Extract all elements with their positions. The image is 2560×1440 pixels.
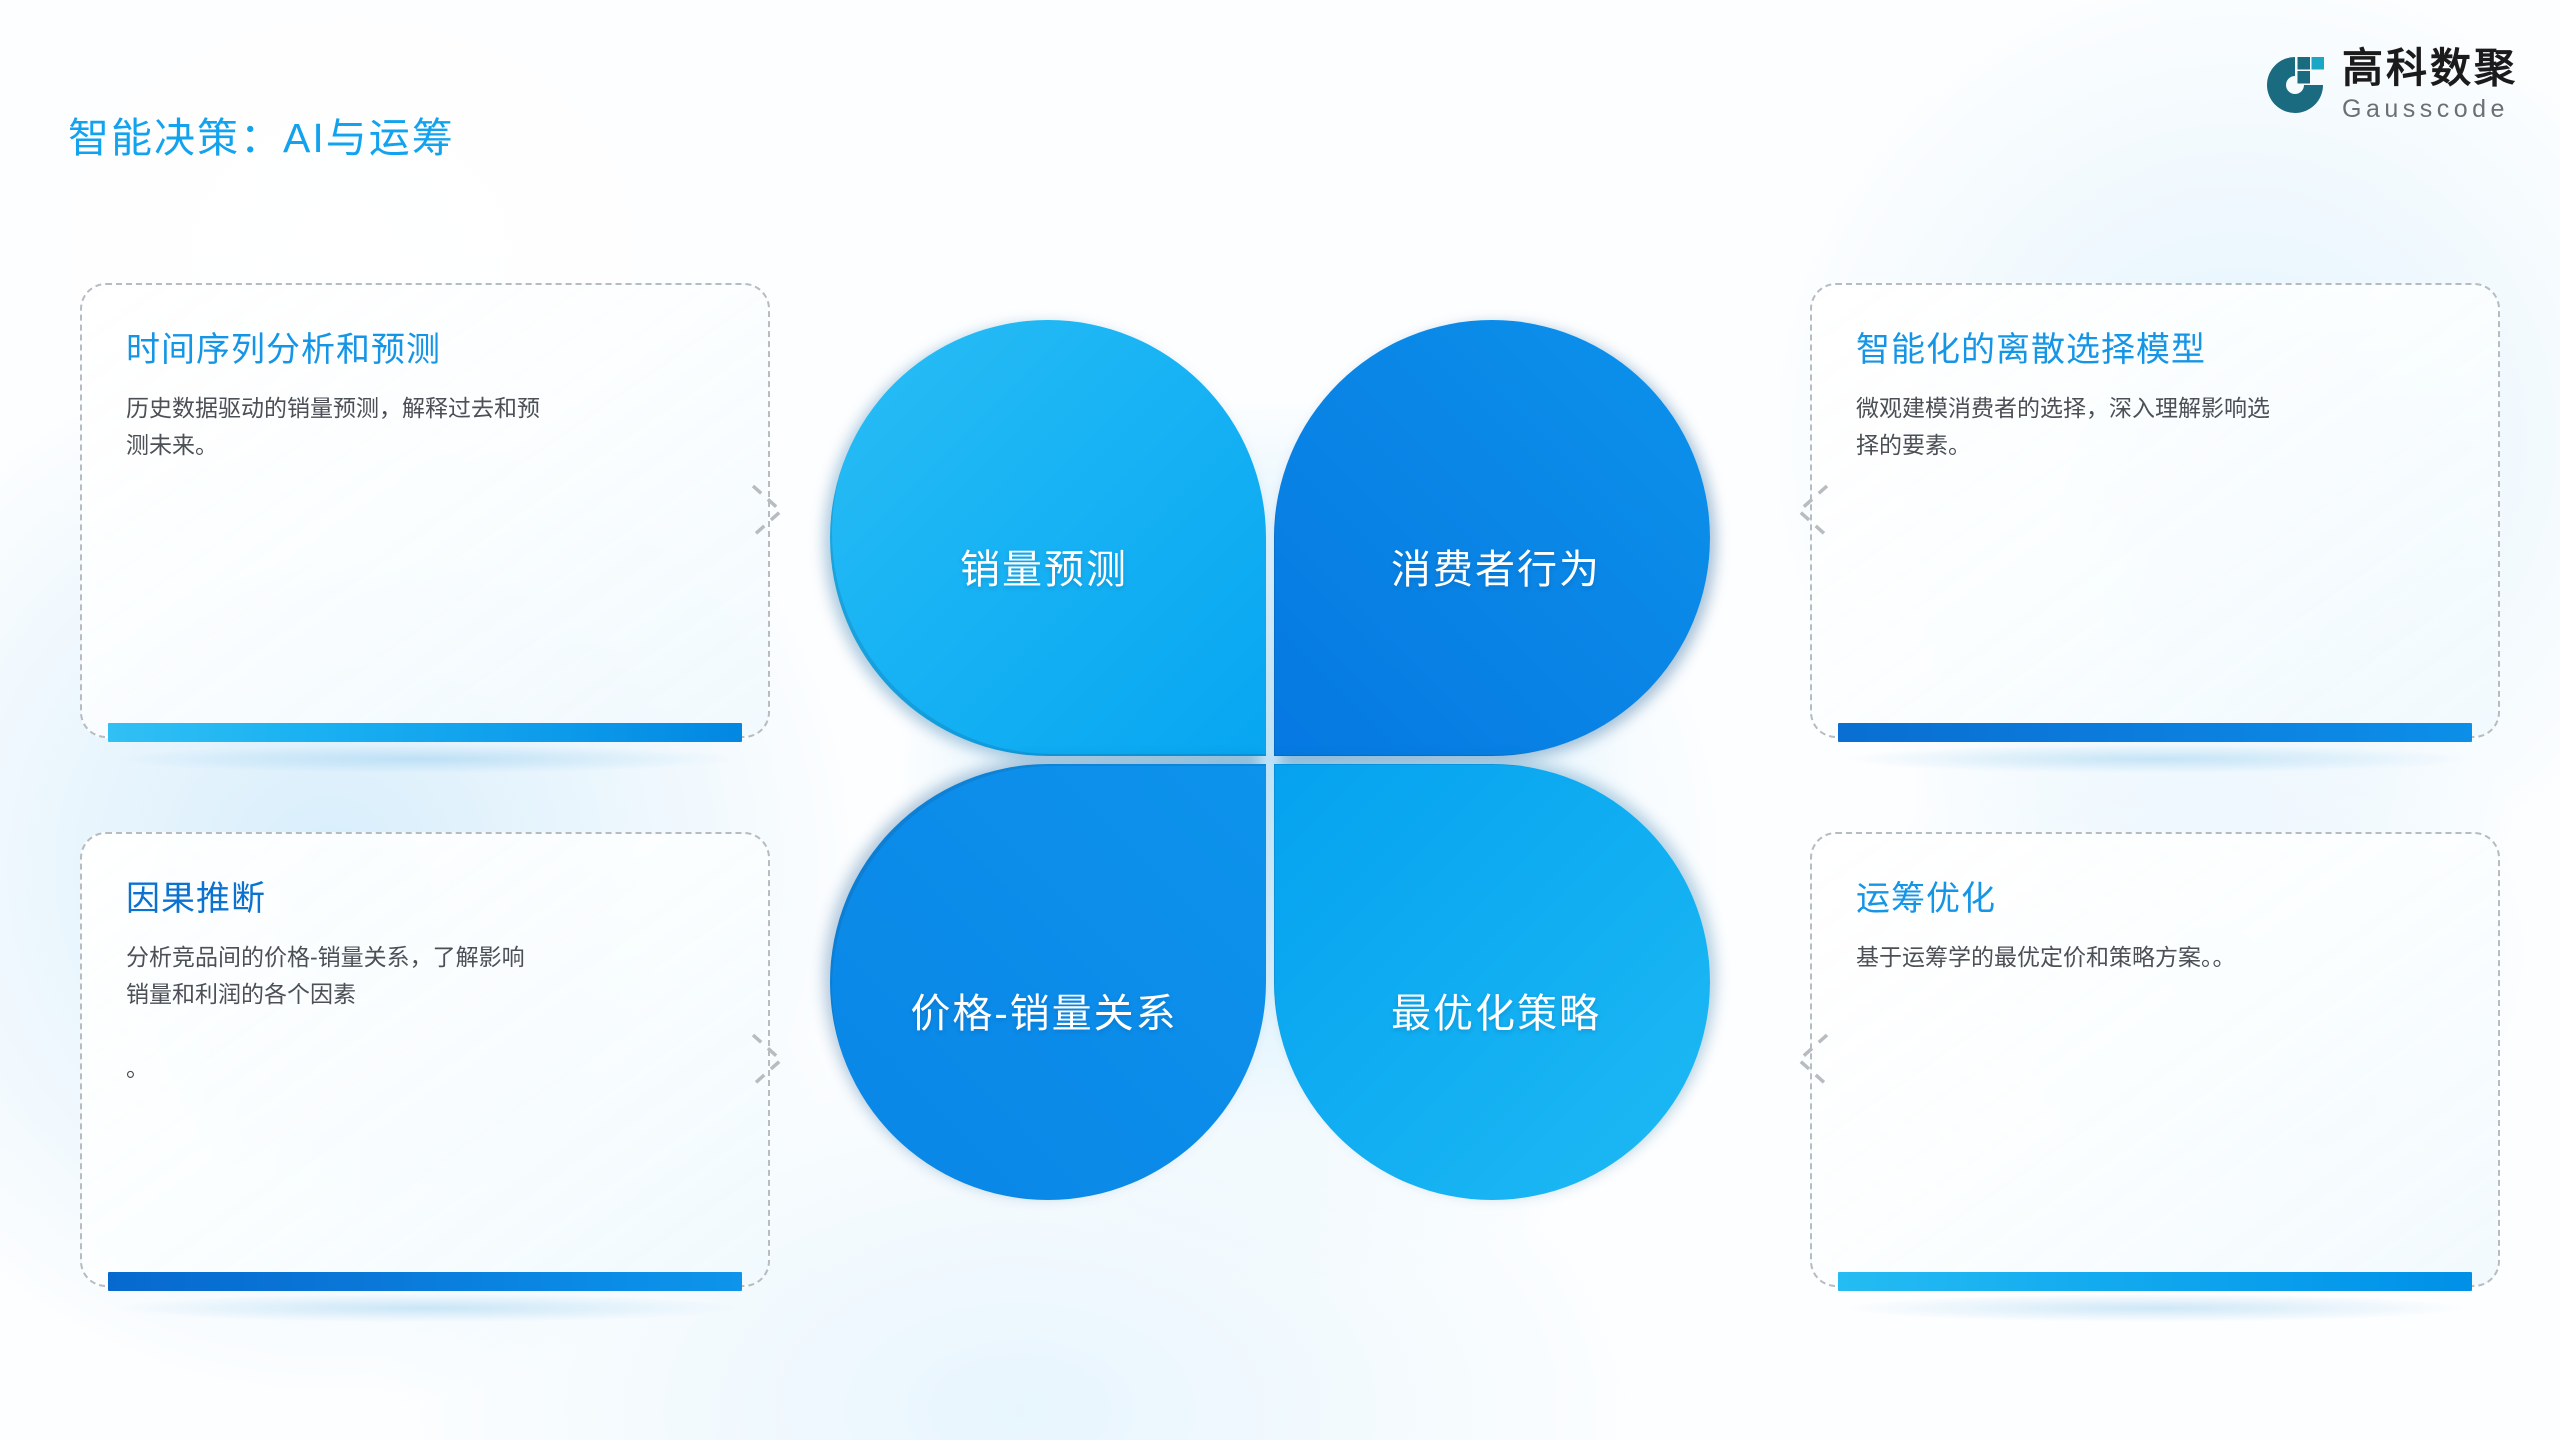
page-title: 智能决策：AI与运筹 (68, 104, 455, 164)
card-causal-inference[interactable]: 因果推断 分析竞品间的价格-销量关系，了解影响 销量和利润的各个因素 。 (80, 832, 770, 1287)
petal-sales-forecast[interactable]: 销量预测 (830, 320, 1266, 756)
card-accent-bar-causal-inference (108, 1272, 742, 1291)
card-discrete-choice[interactable]: 智能化的离散选择模型 微观建模消费者的选择，深入理解影响选 择的要素。 (1810, 283, 2500, 738)
gausscode-logo-mark (2264, 54, 2326, 116)
petal-price-sales-relation[interactable]: 价格-销量关系 (830, 764, 1266, 1200)
brand-name-en: Gausscode (2342, 97, 2518, 122)
flower-glow (710, 200, 1830, 1320)
brand-name-cn: 高科数聚 (2342, 48, 2518, 89)
card-body-causal-inference: 分析竞品间的价格-销量关系，了解影响 销量和利润的各个因素 。 (126, 939, 724, 1088)
flower-diagram: 销量预测 消费者行为 价格-销量关系 最优化策略 (830, 320, 1710, 1200)
connector-chevron-right-causal-inference (747, 1029, 791, 1091)
card-accent-bar-operations-research (1838, 1272, 2472, 1291)
petal-label-sales-forecast: 销量预测 (960, 537, 1128, 595)
petal-label-optimal-strategy: 最优化策略 (1391, 981, 1601, 1039)
connector-chevron-right-time-series (747, 480, 791, 542)
card-title-time-series: 时间序列分析和预测 (126, 329, 724, 372)
card-accent-bar-discrete-choice (1838, 723, 2472, 742)
slide-canvas: 智能决策：AI与运筹 高科数聚 Gausscode 销量预测 消费者行为 价格-… (0, 0, 2560, 1440)
card-title-discrete-choice: 智能化的离散选择模型 (1856, 329, 2454, 372)
card-body-time-series: 历史数据驱动的销量预测，解释过去和预 测未来。 (126, 390, 724, 465)
card-accent-bar-time-series (108, 723, 742, 742)
card-title-causal-inference: 因果推断 (126, 878, 724, 921)
card-time-series[interactable]: 时间序列分析和预测 历史数据驱动的销量预测，解释过去和预 测未来。 (80, 283, 770, 738)
petal-optimal-strategy[interactable]: 最优化策略 (1274, 764, 1710, 1200)
brand-logo: 高科数聚 Gausscode (2264, 48, 2518, 122)
petal-label-price-sales-relation: 价格-销量关系 (910, 981, 1177, 1039)
card-title-operations-research: 运筹优化 (1856, 878, 2454, 921)
card-operations-research[interactable]: 运筹优化 基于运筹学的最优定价和策略方案。。 (1810, 832, 2500, 1287)
card-body-discrete-choice: 微观建模消费者的选择，深入理解影响选 择的要素。 (1856, 390, 2454, 465)
connector-chevron-left-operations-research (1789, 1029, 1833, 1091)
connector-chevron-left-discrete-choice (1789, 480, 1833, 542)
card-body-operations-research: 基于运筹学的最优定价和策略方案。。 (1856, 939, 2454, 976)
petal-consumer-behavior[interactable]: 消费者行为 (1274, 320, 1710, 756)
brand-logo-text: 高科数聚 Gausscode (2342, 48, 2518, 122)
petal-label-consumer-behavior: 消费者行为 (1391, 537, 1601, 595)
